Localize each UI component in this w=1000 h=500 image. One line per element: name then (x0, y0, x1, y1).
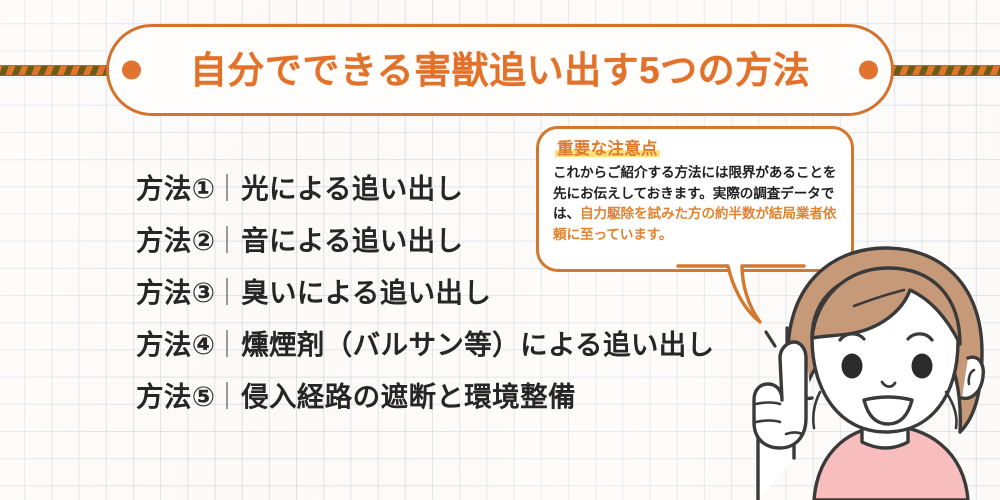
eye-right (912, 354, 933, 379)
method-text: 光による追い出し (241, 166, 463, 206)
method-label: 方法④ (136, 322, 215, 362)
method-separator-icon (226, 226, 228, 253)
callout-body-highlight: 自力駆除を試みた方の約半数が結局業者依頼に至っています。 (553, 206, 836, 242)
method-label: 方法① (136, 166, 215, 206)
eye-left (842, 354, 863, 379)
method-label: 方法② (136, 218, 215, 258)
method-text: 燻煙剤（バルサン等）による追い出し (241, 322, 714, 362)
pointing-woman-illustration (736, 242, 1000, 500)
callout-heading: 重要な注意点 (555, 140, 660, 158)
callout-heading-wrap: 重要な注意点 (553, 138, 838, 163)
method-text: 侵入経路の遮断と環境整備 (241, 374, 576, 414)
method-text: 臭いによる追い出し (241, 270, 491, 310)
page-title: 自分でできる害獣追い出す5つの方法 (190, 52, 810, 89)
list-item: 方法④ 燻煙剤（バルサン等）による追い出し (136, 322, 715, 374)
list-item: 方法⑤ 侵入経路の遮断と環境整備 (136, 374, 715, 426)
banner-dot-right-icon (859, 61, 878, 80)
method-label: 方法③ (136, 270, 215, 310)
banner-dot-left-icon (122, 61, 141, 80)
method-label: 方法⑤ (136, 374, 215, 414)
method-separator-icon (226, 174, 228, 201)
method-text: 音による追い出し (241, 218, 463, 258)
method-separator-icon (226, 330, 228, 357)
callout-body: これからご紹介する方法には限界があることを先にお伝えしておきます。実際の調査デー… (553, 163, 838, 246)
method-separator-icon (226, 278, 228, 305)
list-item: 方法③ 臭いによる追い出し (136, 270, 715, 322)
method-separator-icon (226, 382, 228, 409)
title-banner: 自分でできる害獣追い出す5つの方法 (106, 24, 894, 116)
slide-canvas: 自分でできる害獣追い出す5つの方法 方法① 光による追い出し 方法② 音による追… (0, 0, 1000, 500)
